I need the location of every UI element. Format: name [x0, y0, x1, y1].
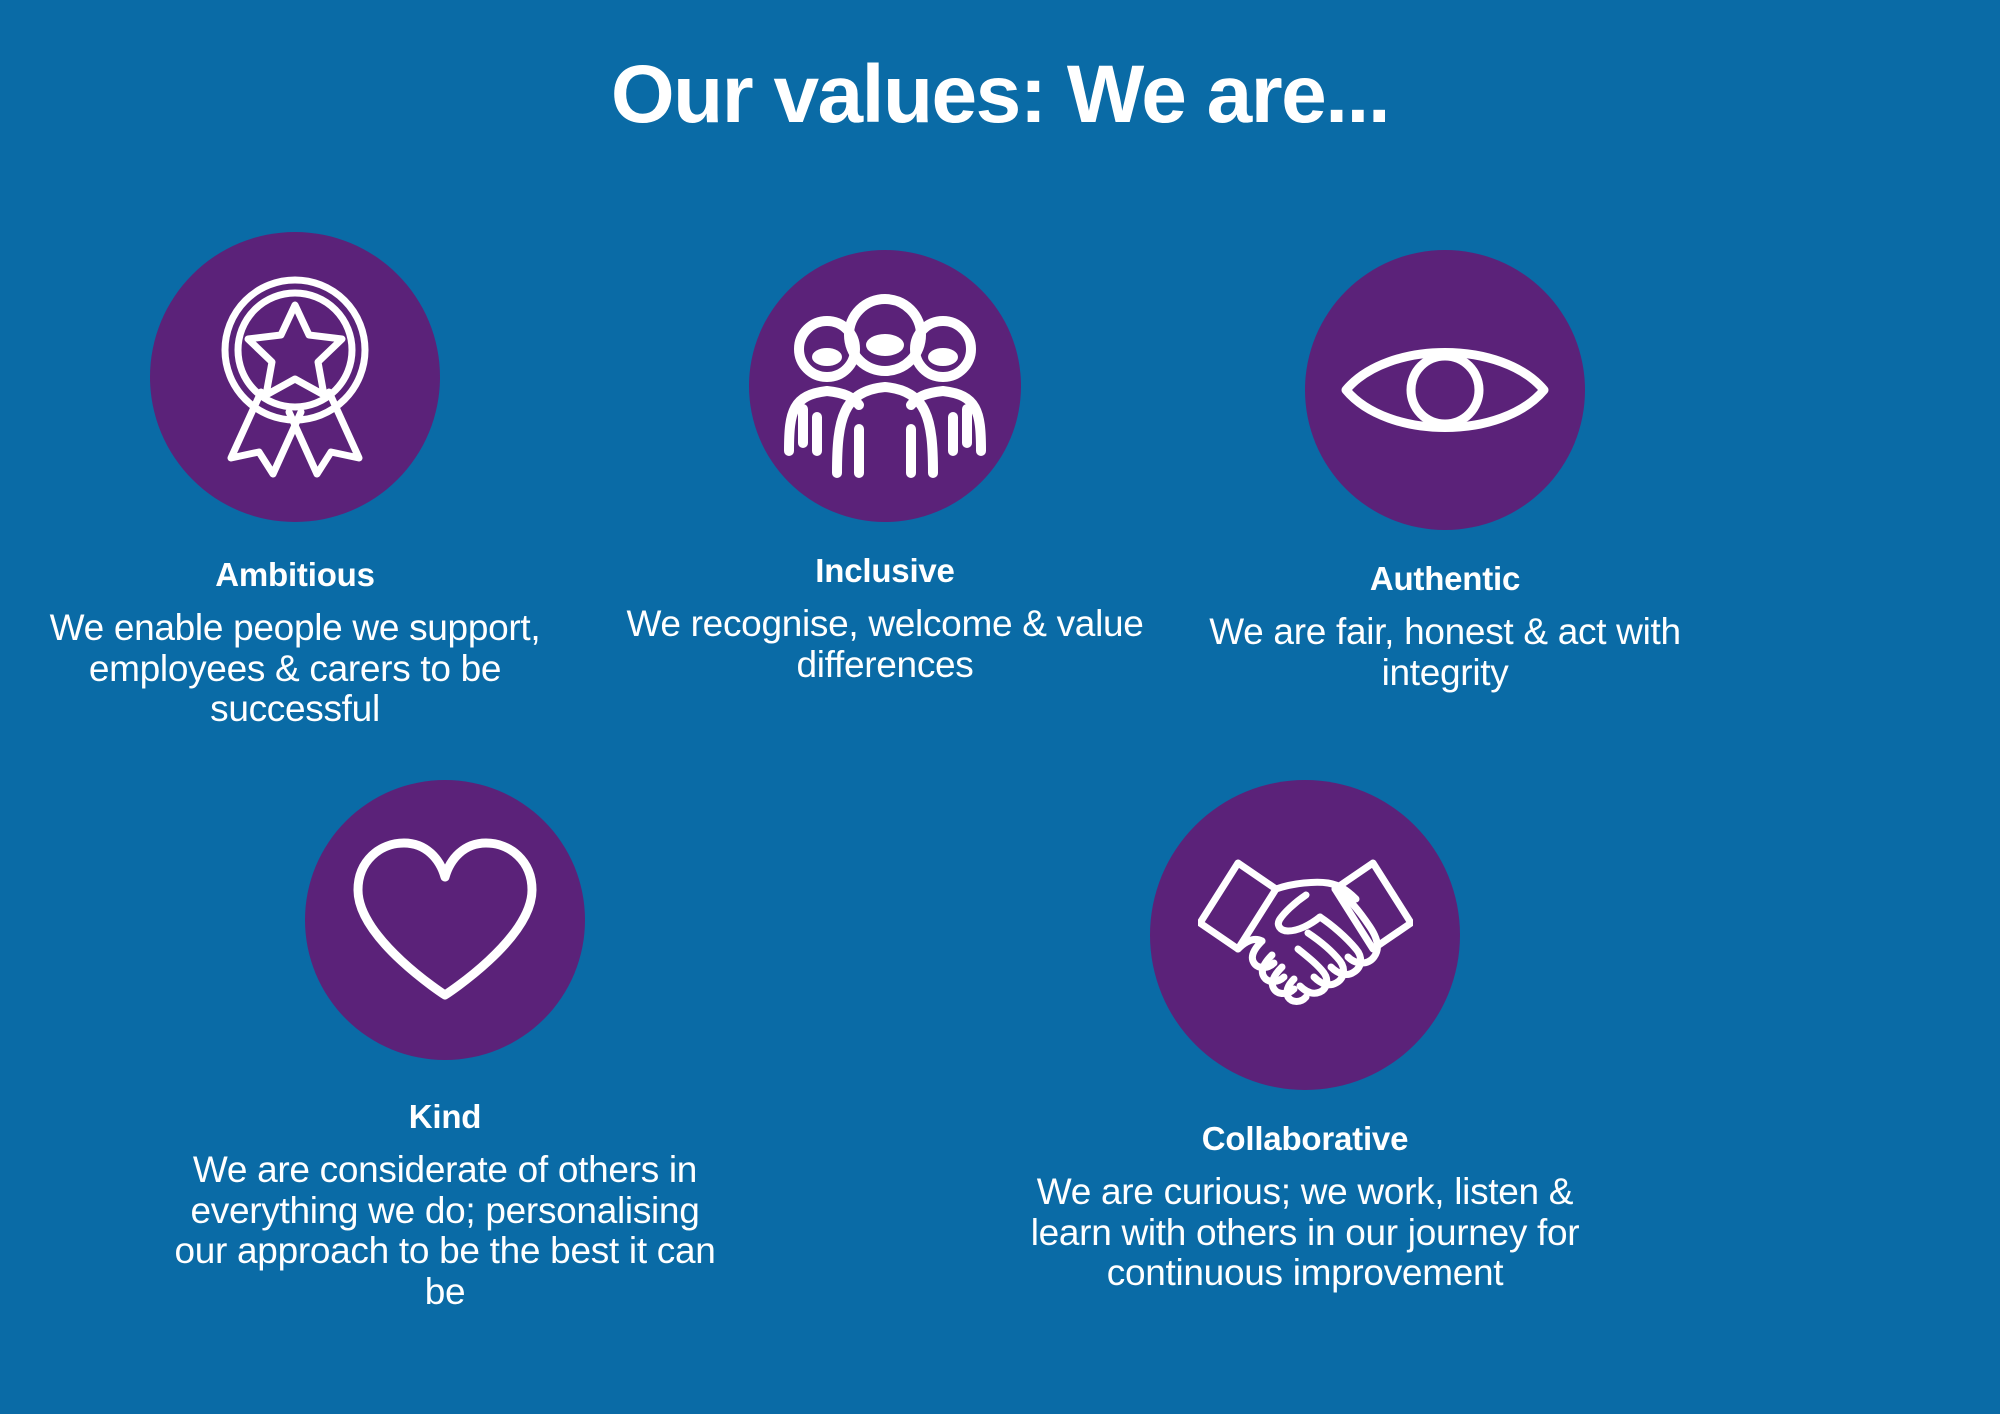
- value-description: We are curious; we work, listen & learn …: [1010, 1172, 1600, 1294]
- value-description: We recognise, welcome & value difference…: [600, 604, 1170, 685]
- value-card-inclusive: Inclusive We recognise, welcome & value …: [600, 250, 1170, 685]
- value-name: Ambitious: [10, 556, 580, 594]
- value-name: Inclusive: [600, 552, 1170, 590]
- value-icon-badge-kind: [305, 780, 585, 1060]
- values-poster: Our values: We are... Ambitious We enabl…: [0, 0, 2000, 1414]
- value-description: We are fair, honest & act with integrity: [1160, 612, 1730, 693]
- value-name: Kind: [160, 1098, 730, 1136]
- value-icon-badge-ambitious: [150, 232, 440, 522]
- value-card-authentic: Authentic We are fair, honest & act with…: [1160, 250, 1730, 693]
- value-name: Authentic: [1160, 560, 1730, 598]
- value-icon-badge-inclusive: [749, 250, 1021, 522]
- group-of-people-icon: [781, 291, 989, 481]
- eye-icon: [1340, 330, 1550, 450]
- page-title: Our values: We are...: [0, 52, 2000, 138]
- value-name: Collaborative: [1010, 1120, 1600, 1158]
- value-icon-badge-authentic: [1305, 250, 1585, 530]
- value-card-collaborative: Collaborative We are curious; we work, l…: [1010, 780, 1600, 1294]
- handshake-icon: [1198, 853, 1413, 1018]
- value-card-ambitious: Ambitious We enable people we support, e…: [10, 232, 580, 730]
- heart-icon: [350, 835, 540, 1005]
- award-rosette-icon: [195, 272, 395, 482]
- value-description: We enable people we support, employees &…: [10, 608, 580, 730]
- value-description: We are considerate of others in everythi…: [160, 1150, 730, 1313]
- value-icon-badge-collaborative: [1150, 780, 1460, 1090]
- value-card-kind: Kind We are considerate of others in eve…: [160, 780, 730, 1313]
